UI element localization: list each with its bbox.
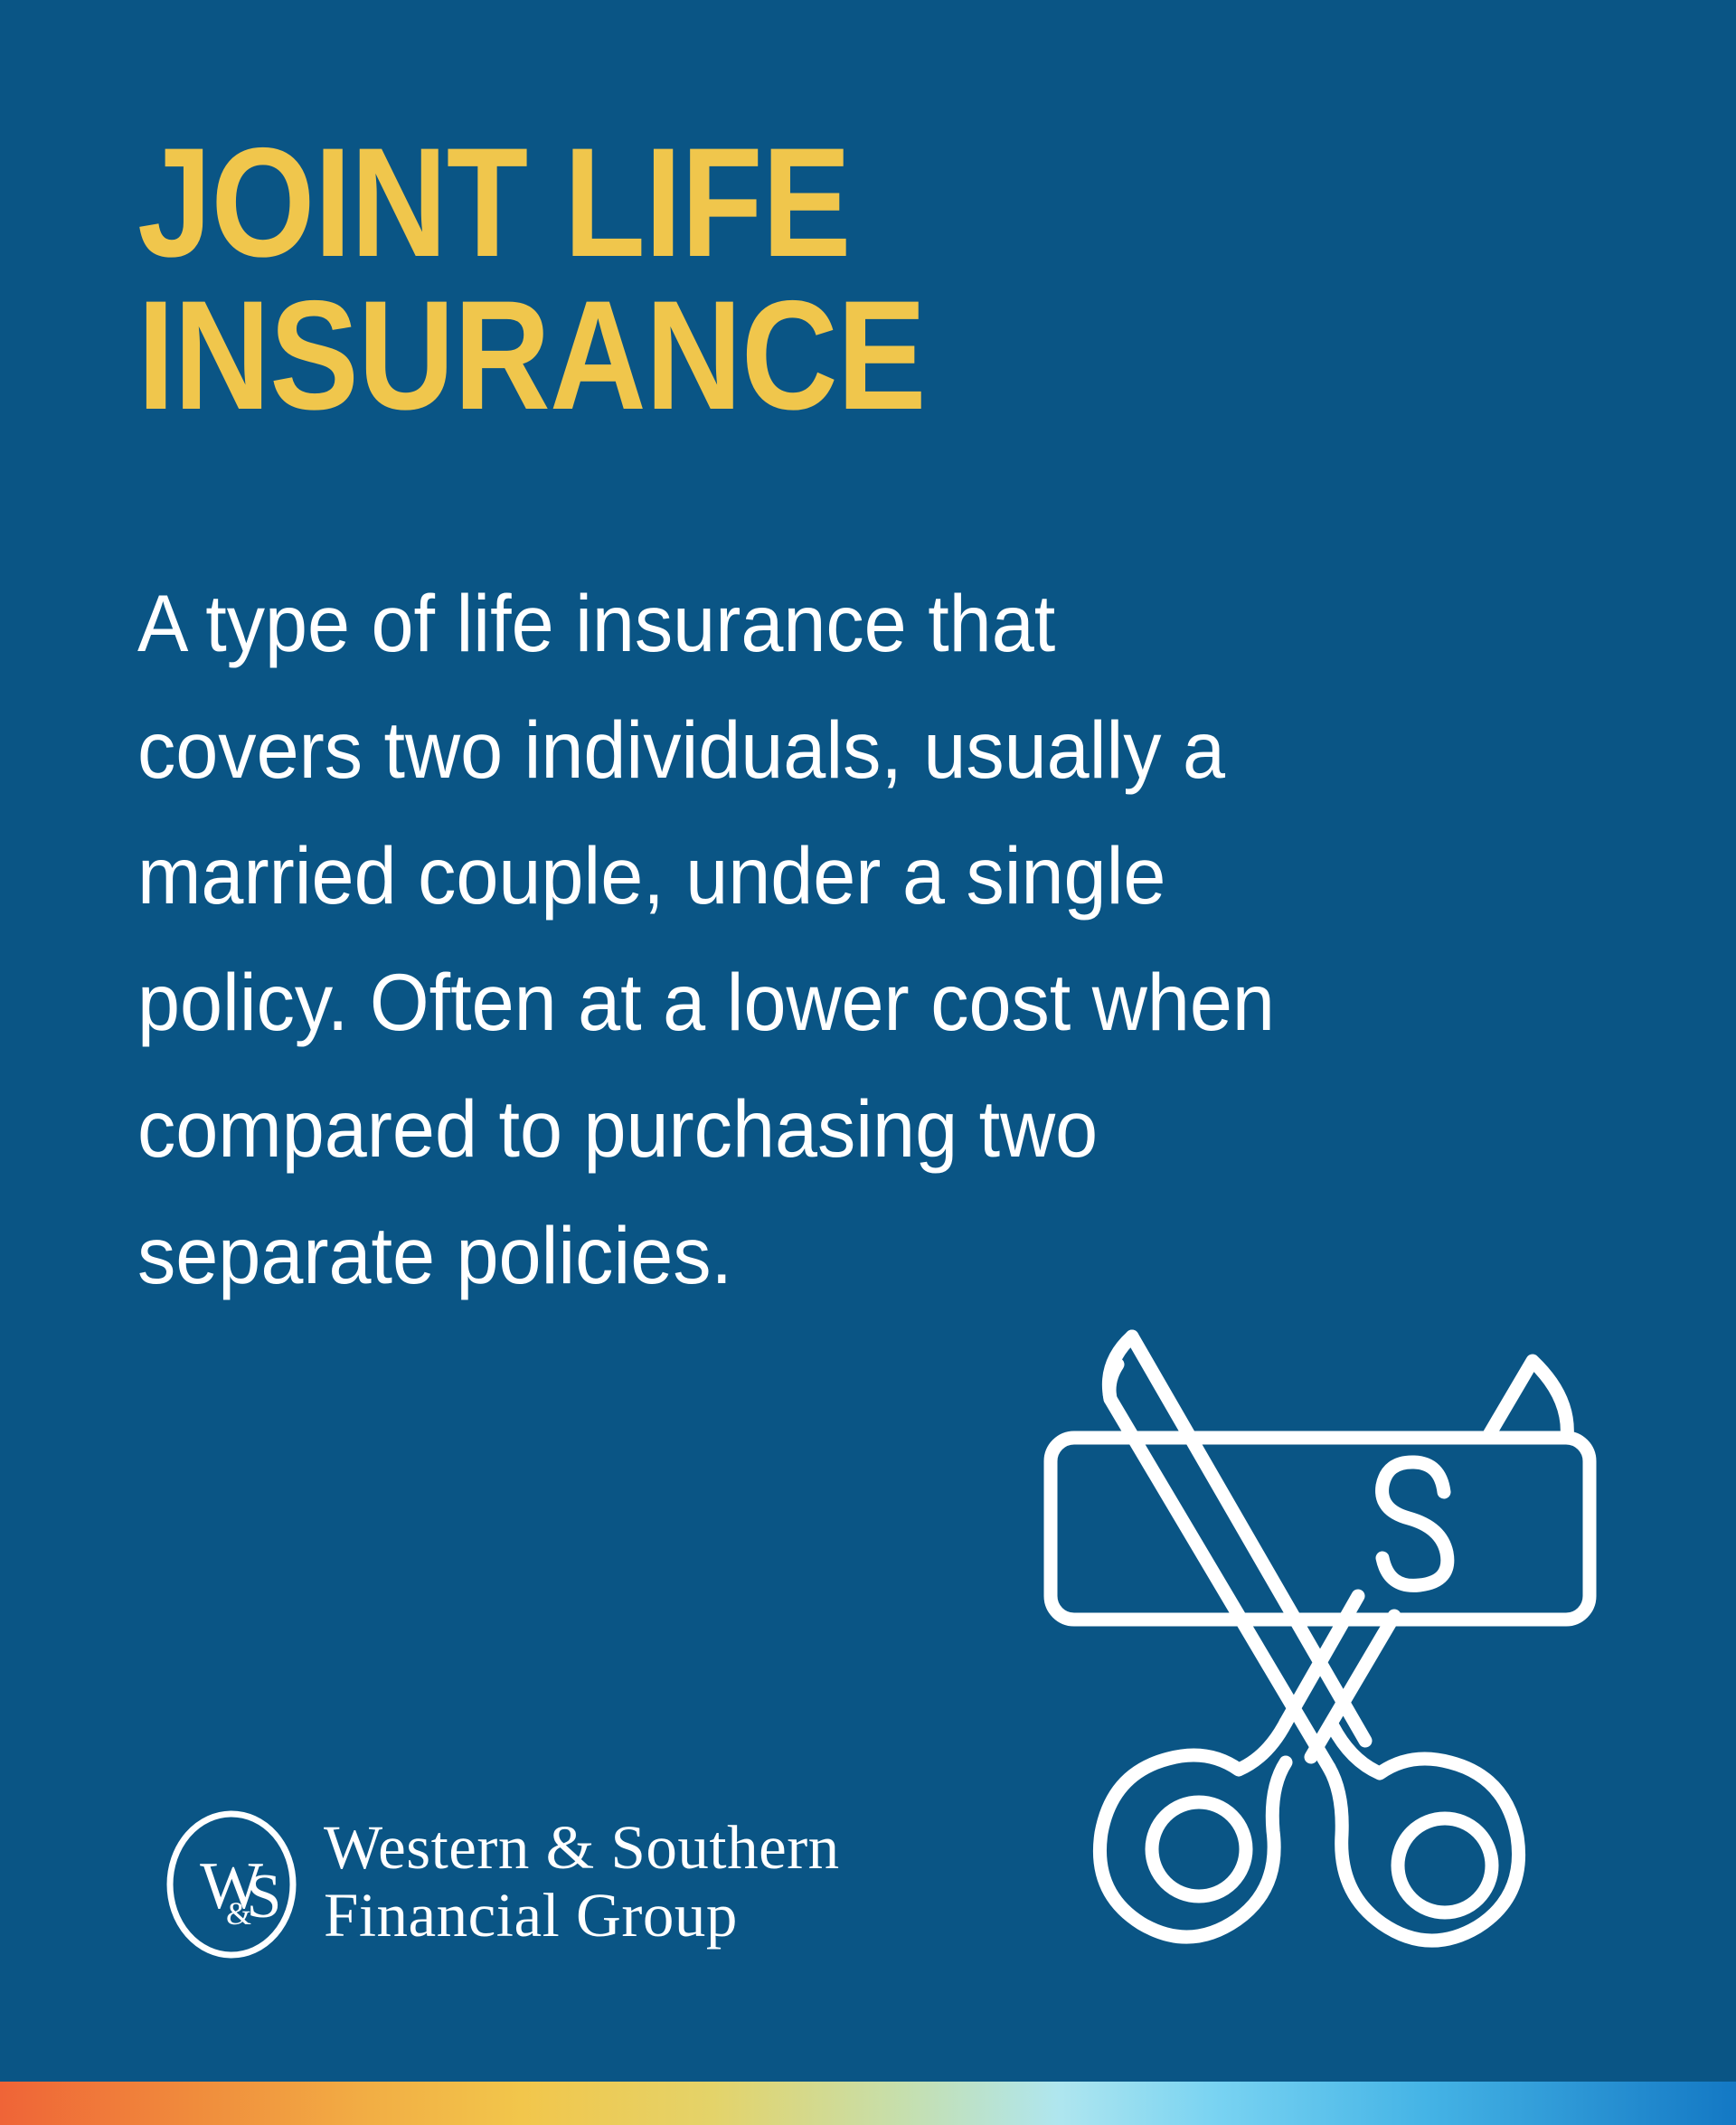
svg-text:S: S xyxy=(247,1862,282,1931)
scissors-handle-left xyxy=(1099,1723,1286,1937)
scissors-cutting-money-icon xyxy=(1040,1298,1600,1985)
page-title: JOINT LIFE INSURANCE xyxy=(137,127,1148,431)
ws-monogram-icon: W S & xyxy=(163,1807,300,1962)
definition-body-text: A type of life insurance that covers two… xyxy=(137,561,1615,1318)
scissors-handle-right xyxy=(1329,1726,1519,1941)
brand-name: Western & Southern Financial Group xyxy=(324,1814,840,1954)
brand-gradient-bar xyxy=(0,2082,1736,2125)
brand-logo: W S & Western & Southern Financial Group xyxy=(163,1807,840,1962)
scissors-blade-left xyxy=(1109,1336,1365,1768)
banknote-shape xyxy=(1051,1361,1590,1620)
dollar-s-symbol xyxy=(1382,1462,1448,1585)
joint-life-insurance-card: JOINT LIFE INSURANCE A type of life insu… xyxy=(0,0,1736,2125)
svg-text:&: & xyxy=(226,1895,251,1931)
